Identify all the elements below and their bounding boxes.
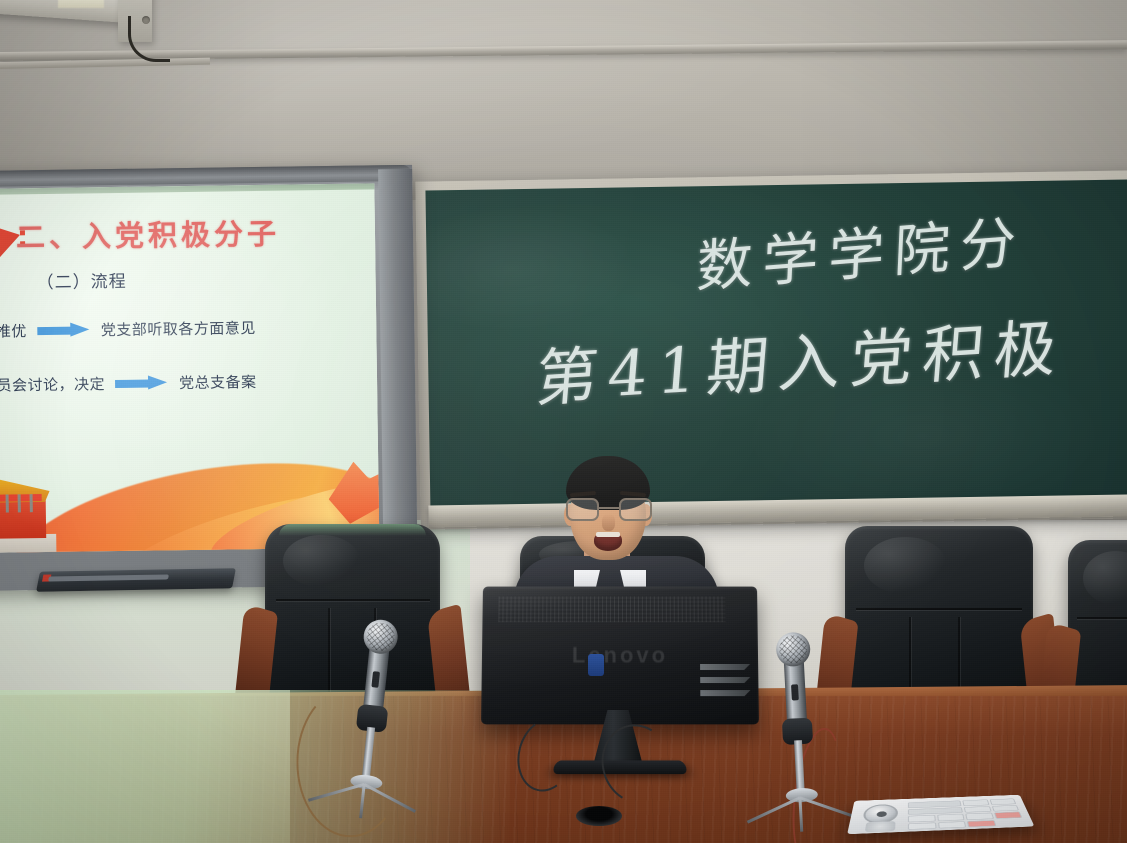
- chair-highlight: [283, 535, 360, 588]
- microphone-stand-shaft: [794, 740, 805, 792]
- control-keypad[interactable]: [908, 798, 1025, 829]
- person-nose: [602, 514, 615, 531]
- ceiling-light-icon: [58, 0, 104, 8]
- flow-step-to: 党支部听取各方面意见: [101, 317, 256, 340]
- microphone-switch[interactable]: [791, 684, 799, 700]
- screen-frame-right: [378, 169, 418, 579]
- slide-subtitle: （二）流程: [36, 267, 126, 293]
- control-key[interactable]: [991, 805, 1019, 812]
- chair-top-light-glow: [279, 524, 426, 536]
- microphone-right[interactable]: [775, 631, 830, 813]
- control-key[interactable]: [964, 806, 991, 813]
- microphone-grille-icon: [775, 632, 811, 668]
- control-key[interactable]: [937, 814, 965, 821]
- microphone-grille-icon: [362, 618, 399, 655]
- vga-connector-icon: [588, 654, 604, 676]
- chair-pleat: [328, 608, 330, 692]
- gate-flags-icon: [0, 494, 52, 517]
- control-key[interactable]: [965, 813, 993, 820]
- slide-flow-row: 支部委员会讨论，决定 党总支备案: [0, 371, 257, 396]
- control-key[interactable]: [908, 822, 936, 830]
- flow-step-from: 团支部推优: [0, 320, 27, 342]
- control-key[interactable]: [962, 799, 989, 805]
- arrow-right-icon: [115, 376, 169, 390]
- chair-left: [265, 524, 440, 699]
- presentation-slide: 二、入党积极分子 （二）流程 团支部推优 党支部听取各方面意见 支部委员会讨论，…: [0, 183, 379, 553]
- control-key[interactable]: [938, 821, 967, 829]
- chalkboard-line-1: 数学学院分: [695, 197, 1028, 304]
- monitor-rear-panel: Lenovo: [481, 587, 759, 725]
- microphone-cable-left: [296, 687, 404, 837]
- flow-step-from: 支部委员会讨论，决定: [0, 373, 105, 396]
- glasses-lens-right: [619, 498, 652, 521]
- glasses-lens-left: [566, 498, 599, 521]
- control-key[interactable]: [967, 820, 996, 827]
- slide-title: 二、入党积极分子: [16, 211, 281, 257]
- control-key-power[interactable]: [993, 812, 1022, 819]
- control-key[interactable]: [908, 815, 935, 822]
- chalkboard-line-2: 第41期入党积极: [533, 297, 1070, 419]
- chair-seam: [1077, 617, 1127, 619]
- chair-seam: [276, 599, 430, 601]
- glasses-bridge: [599, 507, 619, 509]
- person-teeth: [596, 532, 620, 537]
- marker-tray: [36, 568, 236, 591]
- table-projector-cast-inner: [0, 690, 290, 843]
- chair-seam: [856, 608, 1021, 610]
- control-key[interactable]: [989, 798, 1016, 804]
- computer-monitor[interactable]: Lenovo: [482, 586, 758, 756]
- chair-highlight: [864, 537, 947, 594]
- desk-cable-grommet: [576, 806, 622, 826]
- slide-flow-row: 团支部推优 党支部听取各方面意见: [0, 317, 256, 342]
- screen-surface: 二、入党积极分子 （二）流程 团支部推优 党支部听取各方面意见 支部委员会讨论，…: [0, 183, 379, 553]
- monitor-port-slots: [700, 664, 751, 706]
- tiananmen-gate-graphic: [0, 454, 80, 554]
- arrow-right-icon: [37, 323, 91, 337]
- flow-step-to: 党总支备案: [179, 371, 257, 393]
- photo-scene: 数学学院分 第41期入党积极 二、入党积极分子 （二）流程 团支部推优 党支部听…: [0, 0, 1127, 843]
- control-dpad-icon[interactable]: [865, 821, 896, 832]
- monitor-vent-grille: [498, 596, 725, 622]
